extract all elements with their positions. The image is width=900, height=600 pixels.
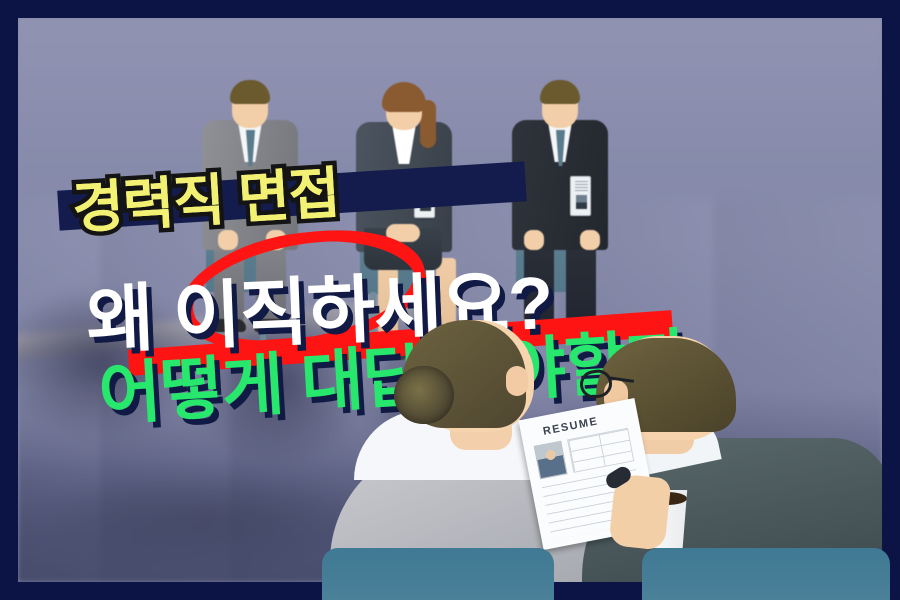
thumbnail-canvas: 경력직 면접 경력직 면접 왜 이직하세요? 어떻게 대답 해야할까 RESUM… xyxy=(0,0,900,600)
chair-back-right xyxy=(642,548,890,600)
woman-ear xyxy=(506,366,528,396)
hand-holding-resume xyxy=(608,473,671,550)
eyeglasses-icon xyxy=(580,370,632,402)
headline-line-1-fill: 경력직 면접 xyxy=(70,148,342,245)
chair-back-left xyxy=(322,548,554,600)
resume-photo xyxy=(534,441,568,480)
